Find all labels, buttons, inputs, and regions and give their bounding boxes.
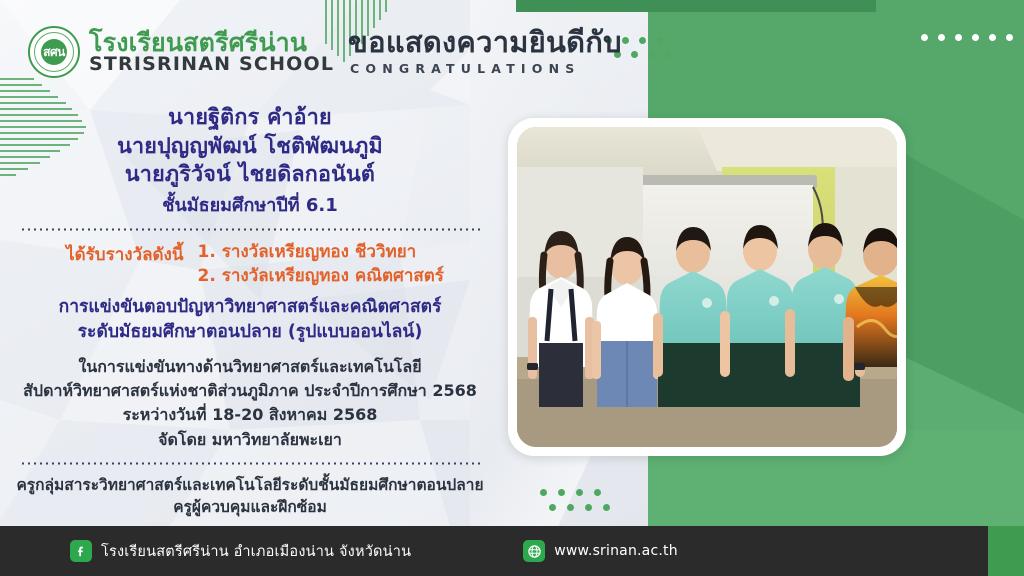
school-logo: สศน โรงเรียนสตรีศรีน่าน STRISRINAN SCHOO… xyxy=(28,26,334,78)
awards-section: ได้รับรางวัลดังนี้ 1. รางวัลเหรียญทอง ชี… xyxy=(0,240,500,289)
recipient-name: นายฐิติกร คำอ้าย xyxy=(0,104,500,133)
footer-bar: โรงเรียนสตรีศรีน่าน อำเภอเมืองน่าน จังหว… xyxy=(0,526,1024,576)
event-line: ระหว่างวันที่ 18-20 สิงหาคม 2568 xyxy=(0,403,500,427)
award-item: 2. รางวัลเหรียญทอง คณิตศาสตร์ xyxy=(197,264,443,289)
school-name-th: โรงเรียนสตรีศรีน่าน xyxy=(89,30,334,56)
divider-bottom xyxy=(20,462,480,465)
event-line: ในการแข่งขันทางด้านวิทยาศาสตร์และเทคโนโล… xyxy=(0,355,500,379)
award-item: 1. รางวัลเหรียญทอง ชีววิทยา xyxy=(197,240,443,265)
dot-grid-bottom xyxy=(540,489,612,511)
competition-title: การแข่งขันตอบปัญหาวิทยาศาสตร์และคณิตศาสต… xyxy=(0,295,500,345)
congratulations-header: ขอแสดงความยินดีกับ CONGRATULATIONS xyxy=(348,27,622,76)
dot-row-panel xyxy=(921,34,1023,41)
school-name-en: STRISRINAN SCHOOL xyxy=(89,55,334,74)
recipient-names: นายฐิติกร คำอ้าย นายปุญญพัฒน์ โชติพัฒนภู… xyxy=(0,104,500,190)
competition-title-line: การแข่งขันตอบปัญหาวิทยาศาสตร์และคณิตศาสต… xyxy=(0,295,500,320)
footer-green-accent xyxy=(988,526,1024,576)
globe-icon[interactable] xyxy=(523,540,545,562)
main-content: นายฐิติกร คำอ้าย นายปุญญพัฒน์ โชติพัฒนภู… xyxy=(0,104,500,519)
awards-list: 1. รางวัลเหรียญทอง ชีววิทยา 2. รางวัลเหร… xyxy=(197,240,443,289)
footer-website-url[interactable]: www.srinan.ac.th xyxy=(554,543,678,559)
footer-facebook-text: โรงเรียนสตรีศรีน่าน อำเภอเมืองน่าน จังหว… xyxy=(101,540,411,563)
group-photo xyxy=(517,127,897,447)
school-emblem-initials: สศน xyxy=(41,39,67,65)
recipient-name: นายปุญญพัฒน์ โชติพัฒนภูมิ xyxy=(0,133,500,162)
top-green-stripe xyxy=(516,0,876,12)
footer-website[interactable]: www.srinan.ac.th xyxy=(523,540,678,562)
teacher-line: ครูผู้ควบคุมและฝึกซ้อม xyxy=(0,496,500,518)
facebook-icon[interactable] xyxy=(70,540,92,562)
event-line: จัดโดย มหาวิทยาลัยพะเยา xyxy=(0,428,500,452)
divider-top xyxy=(20,228,480,231)
school-emblem-icon: สศน xyxy=(28,26,80,78)
class-level: ชั้นมัธยมศึกษาปีที่ 6.1 xyxy=(0,192,500,219)
event-details: ในการแข่งขันทางด้านวิทยาศาสตร์และเทคโนโล… xyxy=(0,355,500,452)
teacher-line: ครูกลุ่มสาระวิทยาศาสตร์และเทคโนโลยีระดับ… xyxy=(0,474,500,496)
congratulations-title-en: CONGRATULATIONS xyxy=(348,61,622,76)
footer-facebook[interactable]: โรงเรียนสตรีศรีน่าน อำเภอเมืองน่าน จังหว… xyxy=(70,540,411,563)
competition-title-line: ระดับมัธยมศึกษาตอนปลาย (รูปแบบออนไลน์) xyxy=(0,320,500,345)
teacher-credits: ครูกลุ่มสาระวิทยาศาสตร์และเทคโนโลยีระดับ… xyxy=(0,474,500,519)
congratulations-title-th: ขอแสดงความยินดีกับ xyxy=(348,27,622,59)
awards-label: ได้รับรางวัลดังนี้ xyxy=(66,240,183,268)
event-line: สัปดาห์วิทยาศาสตร์แห่งชาติส่วนภูมิภาค ปร… xyxy=(0,379,500,403)
congratulations-poster: สศน โรงเรียนสตรีศรีน่าน STRISRINAN SCHOO… xyxy=(0,0,1024,576)
photo-frame xyxy=(508,118,906,456)
recipient-name: นายภูริวัจน์ ไชยดิลกอนันต์ xyxy=(0,161,500,190)
